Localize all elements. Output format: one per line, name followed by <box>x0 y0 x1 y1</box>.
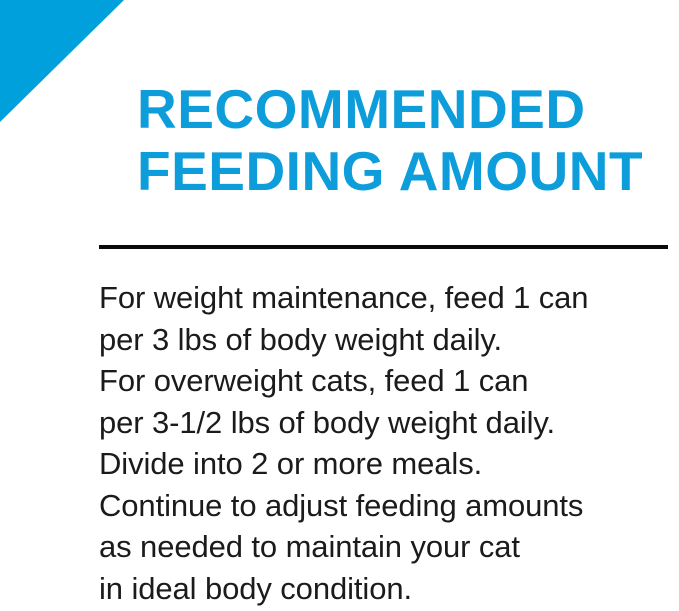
instruction-line: For weight maintenance, feed 1 can <box>99 277 679 319</box>
recommended-feeding-amount-card: RECOMMENDED FEEDING AMOUNT For weight ma… <box>0 0 679 611</box>
title-divider-rule <box>99 245 668 249</box>
instruction-line: Divide into 2 or more meals. <box>99 443 679 485</box>
instruction-line: per 3 lbs of body weight daily. <box>99 319 679 361</box>
page-title: RECOMMENDED FEEDING AMOUNT <box>99 78 674 202</box>
instruction-line: in ideal body condition. <box>99 568 679 610</box>
instruction-line: per 3-1/2 lbs of body weight daily. <box>99 402 679 444</box>
instruction-line: For overweight cats, feed 1 can <box>99 360 679 402</box>
instruction-line: Continue to adjust feeding amounts <box>99 485 679 527</box>
page-title-line-1: RECOMMENDED <box>137 78 674 140</box>
page-title-line-2: FEEDING AMOUNT <box>137 140 674 202</box>
feeding-instructions-text: For weight maintenance, feed 1 can per 3… <box>99 277 679 609</box>
instruction-line: as needed to maintain your cat <box>99 526 679 568</box>
